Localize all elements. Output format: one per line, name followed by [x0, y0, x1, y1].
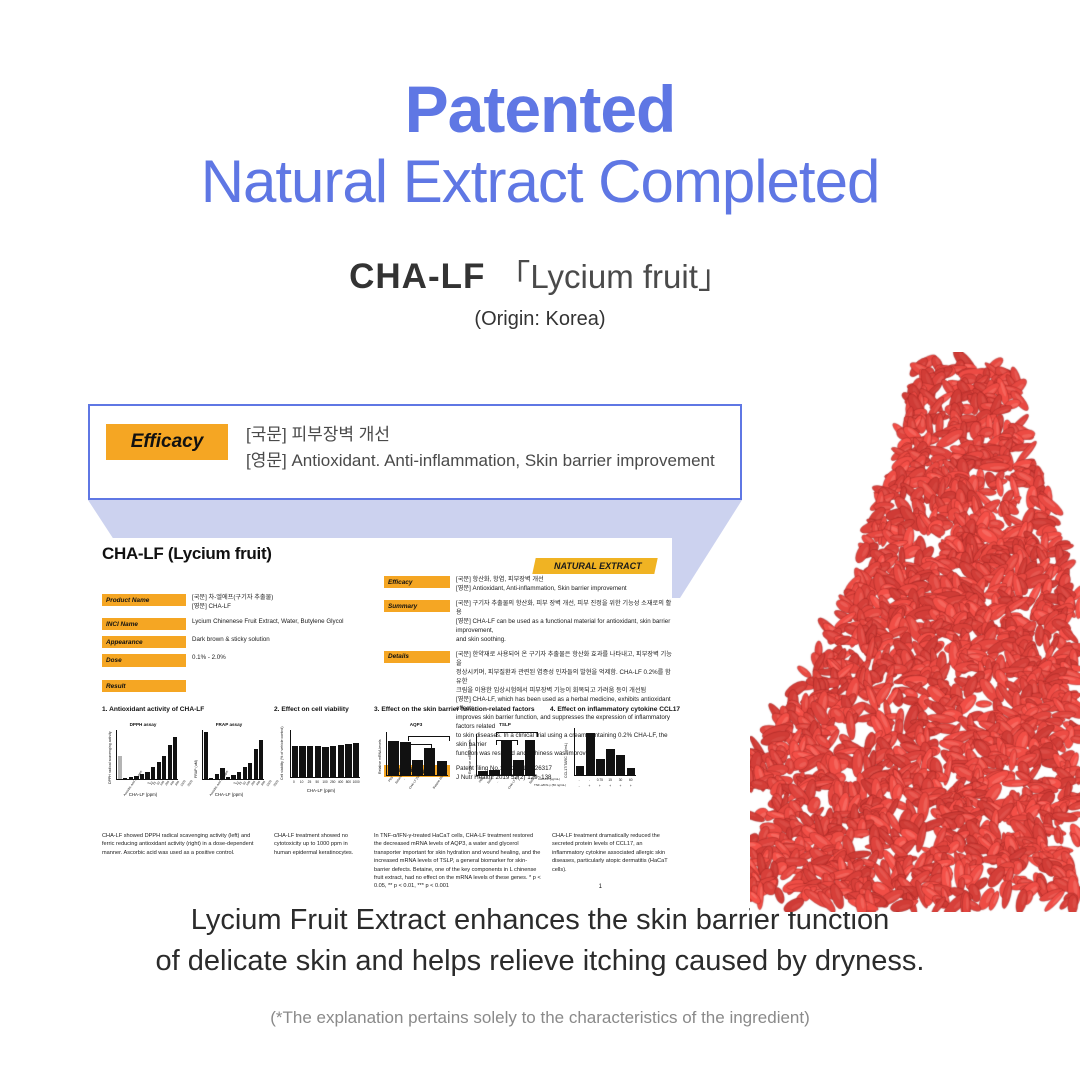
ingredient-subtitle: CHA-LF「Lycium fruit」	[0, 250, 1080, 298]
row-value-line: and skin soothing.	[456, 636, 672, 645]
subplot-1b-title: FRAP assay	[190, 722, 268, 727]
figure-2-xlabel: CHA-LF (ppm)	[274, 788, 368, 793]
row-label: Appearance	[102, 636, 186, 648]
figure-4-plot: CCL17/TARC (pg/mL) --0.75153060 -+++++ C…	[552, 722, 662, 800]
efficacy-callout: Efficacy [국문] 피부장벽 개선 [영문] Antioxidant. …	[88, 404, 742, 500]
row-label: Summary	[384, 600, 450, 612]
tagline: Lycium Fruit Extract enhances the skin b…	[0, 900, 1080, 982]
figure-1-caption: CHA-LF showed DPPH radical scavenging ac…	[102, 832, 262, 857]
figure-1-title: 1. Antioxidant activity of CHA-LF	[102, 706, 204, 713]
subplot-1a-ylabel: DPPH radical scavenging activity	[108, 731, 112, 784]
tagline-line-2: of delicate skin and helps relieve itchi…	[0, 941, 1080, 982]
page-root: Patented Natural Extract Completed CHA-L…	[0, 0, 1080, 1080]
efficacy-line-korean: [국문] 피부장벽 개선	[246, 422, 715, 448]
figure-1-plot: DPPH assay DPPH radical scavenging activ…	[102, 722, 268, 798]
figures-section: 1. Antioxidant activity of CHA-LF 2. Eff…	[102, 706, 672, 892]
ingredient-code: CHA-LF	[349, 257, 485, 296]
row-value-line: [국문] 구기자 추출물의 항산화, 피부 장벽 개선, 피부 진정을 위한 기…	[456, 600, 672, 618]
doc-page-number: 1	[599, 884, 602, 890]
row-label: INCI Name	[102, 618, 186, 630]
efficacy-badge: Efficacy	[106, 424, 228, 460]
subplot-1b-xlabel: CHA-LF (ppm)	[190, 792, 268, 797]
spec-sheet-document: CHA-LF (Lycium fruit) NATURAL EXTRACT Pr…	[96, 538, 672, 878]
row-value-line: 정상시키며, 피부질환과 관련된 염증성 인자들의 발현을 억제함. CHA-L…	[456, 669, 672, 687]
doc-title: CHA-LF (Lycium fruit)	[102, 544, 272, 564]
subplot-1a-title: DPPH assay	[104, 722, 182, 727]
subplot-3a-title: AQP3	[374, 722, 458, 727]
figure-3-plot: AQP3 Relative mRNA levels PBSBetaine-CHA…	[374, 722, 546, 800]
page-title: Patented Natural Extract Completed	[0, 76, 1080, 212]
row-value: 0.1% - 2.0%	[192, 654, 364, 663]
row-label: Details	[384, 651, 450, 663]
figure-4-row-label-1: CHA-LF (μg/mL)	[538, 777, 560, 781]
row-value-line: [영문] CHA-LF	[192, 603, 364, 612]
row-label: Product Name	[102, 594, 186, 606]
subplot-1a-xlabel: CHA-LF (ppm)	[104, 792, 182, 797]
figure-2-ylabel: Cell viability (% of vehicle control)	[280, 726, 284, 780]
row-label: Efficacy	[384, 576, 450, 588]
subplot-3b-title: TSLP	[464, 722, 546, 727]
figure-3-title: 3. Effect on the skin barrier function-r…	[374, 706, 534, 713]
row-label: Dose	[102, 654, 186, 666]
row-value: Lycium Chinenese Fruit Extract, Water, B…	[192, 618, 364, 627]
result-label: Result	[102, 680, 186, 692]
figure-4-caption: CHA-LF treatment dramatically reduced th…	[552, 832, 668, 874]
table-row: Appearance Dark brown & sticky solution	[102, 636, 364, 648]
goji-berry-photo	[750, 352, 1080, 912]
figure-4-ylabel: CCL17/TARC (pg/mL)	[564, 743, 568, 778]
table-row: Product Name [국문] 차-엘에프(구기자 추출물) [영문] CH…	[102, 594, 364, 612]
figure-4-title: 4. Effect on inflammatory cytokine CCL17	[550, 706, 680, 713]
row-value-line: [국문] 차-엘에프(구기자 추출물)	[192, 594, 364, 603]
subplot-3b-ylabel: Relative mRNA levels	[468, 739, 472, 774]
figure-4-row-label-2: TNF-α/IFN-γ (50 ng/mL)	[534, 783, 566, 787]
row-value: Dark brown & sticky solution	[192, 636, 364, 645]
row-value-line: 크림을 이용한 임상시험에서 피부장벽 기능이 회복되고 가려움 등이 개선됨	[456, 687, 672, 696]
figure-2-plot: Cell viability (% of vehicle control) 01…	[274, 722, 368, 798]
figure-2-caption: CHA-LF treatment showed no cytotoxicity …	[274, 832, 366, 857]
row-value-line: [국문] 한약재로 사용되어 온 구기자 추출물은 항산화 효과를 나타내고, …	[456, 651, 672, 669]
natural-extract-badge-label: NATURAL EXTRACT	[554, 561, 642, 571]
headline-line-2: Natural Extract Completed	[0, 152, 1080, 212]
table-row: INCI Name Lycium Chinenese Fruit Extract…	[102, 618, 364, 630]
subplot-3a-ylabel: Relative mRNA levels	[378, 739, 382, 774]
row-value-line: [영문] CHA-LF can be used as a functional …	[456, 618, 672, 636]
figure-3-caption: In TNF-α/IFN-γ-treated HaCaT cells, CHA-…	[374, 832, 542, 891]
headline-line-1: Patented	[0, 76, 1080, 142]
ingredient-origin: (Origin: Korea)	[0, 308, 1080, 331]
row-value-line: [국문] 항산화, 항염, 피부장벽 개선	[456, 576, 672, 585]
ingredient-scientific-name: 「Lycium fruit」	[497, 258, 730, 295]
row-value: [국문] 항산화, 항염, 피부장벽 개선 [영문] Antioxidant, …	[456, 576, 672, 594]
natural-extract-badge: NATURAL EXTRACT	[533, 558, 658, 574]
row-value: [국문] 구기자 추출물의 항산화, 피부 장벽 개선, 피부 진정을 위한 기…	[456, 600, 672, 645]
table-row: Summary [국문] 구기자 추출물의 항산화, 피부 장벽 개선, 피부 …	[384, 600, 672, 645]
table-row: Dose 0.1% - 2.0%	[102, 654, 364, 666]
row-value: [국문] 차-엘에프(구기자 추출물) [영문] CHA-LF	[192, 594, 364, 612]
efficacy-line-english: [영문] Antioxidant. Anti-inflammation, Ski…	[246, 448, 715, 474]
figure-2-title: 2. Effect on cell viability	[274, 706, 349, 713]
doc-left-column: Product Name [국문] 차-엘에프(구기자 추출물) [영문] CH…	[102, 594, 364, 673]
table-row: Efficacy [국문] 항산화, 항염, 피부장벽 개선 [영문] Anti…	[384, 576, 672, 594]
row-value-line: [영문] Antioxidant, Anti-inflammation, Ski…	[456, 585, 672, 594]
subplot-1b-ylabel: FRAP (uM)	[194, 760, 198, 778]
disclaimer-text: (*The explanation pertains solely to the…	[0, 1008, 1080, 1028]
